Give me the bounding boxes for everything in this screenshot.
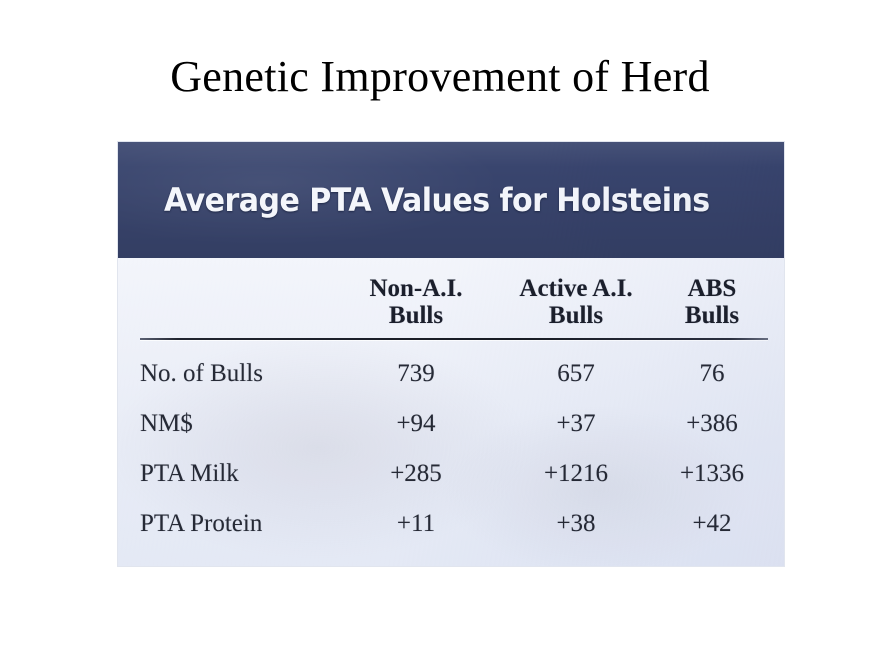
cell-active-ai-bulls: +1216: [496, 449, 656, 499]
table-body-rows: No. of Bulls 739 657 76 NM$ +94 +37 +386…: [140, 341, 768, 549]
table-row: PTA Protein +11 +38 +42: [140, 499, 768, 549]
cell-active-ai-bulls: +38: [496, 499, 656, 549]
table-row: No. of Bulls 739 657 76: [140, 341, 768, 399]
cell-abs-bulls: +42: [656, 499, 768, 549]
table-body: Non-A.I. Bulls Active A.I. Bulls ABS Bul…: [118, 258, 784, 566]
table-banner: Average PTA Values for Holsteins: [118, 142, 784, 258]
column-header-line2: Bulls: [496, 303, 656, 330]
table-header: Non-A.I. Bulls Active A.I. Bulls ABS Bul…: [140, 258, 768, 341]
cell-non-ai-bulls: +94: [336, 399, 496, 449]
row-label: PTA Protein: [140, 499, 336, 549]
cell-abs-bulls: +386: [656, 399, 768, 449]
row-label: No. of Bulls: [140, 341, 336, 399]
cell-non-ai-bulls: +285: [336, 449, 496, 499]
column-header-line1: Non-A.I.: [369, 275, 462, 302]
pta-values-table: Non-A.I. Bulls Active A.I. Bulls ABS Bul…: [140, 258, 768, 549]
table-row: NM$ +94 +37 +386: [140, 399, 768, 449]
column-header-active-ai-bulls: Active A.I. Bulls: [496, 258, 656, 337]
cell-non-ai-bulls: 739: [336, 341, 496, 399]
cell-abs-bulls: +1336: [656, 449, 768, 499]
header-divider: [140, 338, 768, 340]
column-header-line1: Active A.I.: [519, 275, 632, 302]
column-header-line1: ABS: [688, 275, 737, 302]
cell-non-ai-bulls: +11: [336, 499, 496, 549]
table-header-row: Non-A.I. Bulls Active A.I. Bulls ABS Bul…: [140, 258, 768, 337]
cell-active-ai-bulls: 657: [496, 341, 656, 399]
table-banner-title: Average PTA Values for Holsteins: [164, 181, 710, 219]
cell-abs-bulls: 76: [656, 341, 768, 399]
page-title: Genetic Improvement of Herd: [0, 53, 880, 101]
column-header-line2: Bulls: [656, 303, 768, 330]
cell-active-ai-bulls: +37: [496, 399, 656, 449]
row-label: PTA Milk: [140, 449, 336, 499]
table-row: PTA Milk +285 +1216 +1336: [140, 449, 768, 499]
column-header-row-label: [140, 258, 336, 337]
column-header-line2: Bulls: [336, 303, 496, 330]
row-label: NM$: [140, 399, 336, 449]
column-header-abs-bulls: ABS Bulls: [656, 258, 768, 337]
pta-values-table-figure: Average PTA Values for Holsteins Non-A.I…: [118, 142, 784, 566]
column-header-non-ai-bulls: Non-A.I. Bulls: [336, 258, 496, 337]
